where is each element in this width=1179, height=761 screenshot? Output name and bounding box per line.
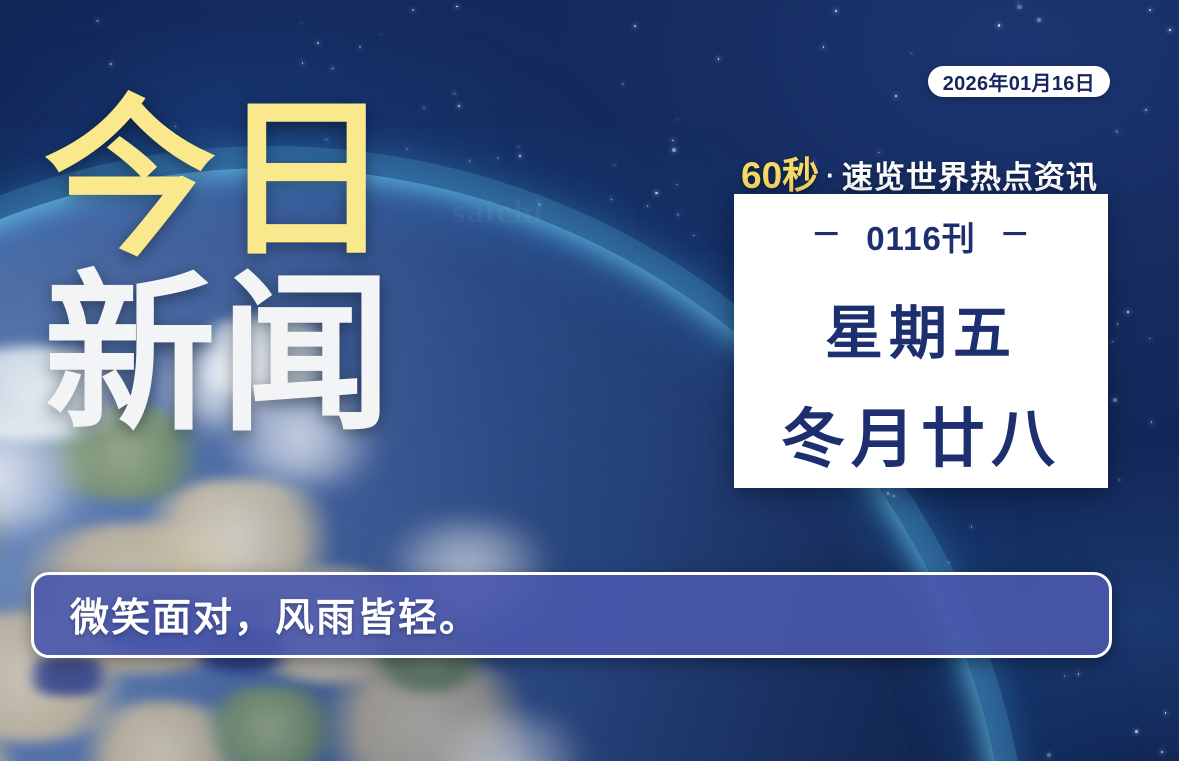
star-dot <box>647 205 649 207</box>
star-dot <box>672 140 674 142</box>
star-dot <box>718 58 720 60</box>
star-dot <box>634 25 636 27</box>
star-dot <box>497 157 499 159</box>
star-dot <box>693 235 695 237</box>
star-dot <box>622 83 624 85</box>
weekday-label: 星期五 <box>825 286 1017 370</box>
star-dot <box>1119 479 1121 481</box>
star-dot <box>1064 675 1066 677</box>
star-dot <box>655 192 658 195</box>
quote-text: 微笑面对，风雨皆轻。 <box>70 587 480 643</box>
star-dot <box>317 42 319 44</box>
issue-row: － 0116刊 － <box>811 212 1031 260</box>
star-dot <box>518 146 520 148</box>
star-dot <box>1113 398 1117 402</box>
date-badge: 2026年01月16日 <box>928 66 1110 97</box>
star-dot <box>971 526 973 528</box>
lunar-date-label: 冬月廿八 <box>781 388 1061 480</box>
star-dot <box>301 23 303 25</box>
star-dot <box>110 63 113 66</box>
star-dot <box>456 6 458 8</box>
star-dot <box>1018 2 1020 4</box>
star-dot <box>1135 730 1138 733</box>
star-dot <box>359 46 361 48</box>
star-dot <box>1116 130 1119 133</box>
issue-dash-right-icon: － <box>1000 221 1031 251</box>
star-dot <box>998 24 1001 27</box>
masthead-line-1: 今日 <box>44 96 474 265</box>
star-dot <box>823 46 825 48</box>
star-dot <box>1047 753 1051 757</box>
star-dot <box>677 119 679 121</box>
star-dot <box>96 20 99 23</box>
star-dot <box>676 184 678 186</box>
tagline-duration: 60秒 <box>741 145 819 199</box>
star-dot <box>1127 311 1129 313</box>
tagline-description: 速览世界热点资讯 <box>842 152 1098 197</box>
news-poster: saichi 今日 新闻 2026年01月16日 60秒 · 速览世界热点资讯 … <box>0 0 1179 761</box>
tagline: 60秒 · 速览世界热点资讯 <box>741 145 1098 199</box>
star-dot <box>1117 323 1119 325</box>
star-dot <box>1161 751 1164 754</box>
star-dot <box>1112 341 1114 343</box>
date-card: － 0116刊 － 星期五 冬月廿八 <box>734 194 1108 488</box>
star-dot <box>614 165 616 167</box>
star-dot <box>887 492 890 495</box>
star-dot <box>1145 109 1148 112</box>
star-dot <box>332 68 334 70</box>
quote-bar: 微笑面对，风雨皆轻。 <box>31 572 1112 658</box>
star-dot <box>381 34 383 36</box>
star-dot <box>1078 673 1080 675</box>
star-dot <box>412 9 414 11</box>
star-dot <box>1165 712 1167 714</box>
star-dot <box>835 10 837 12</box>
star-dot <box>672 148 676 152</box>
star-dot <box>895 95 897 97</box>
tagline-separator-dot: · <box>823 160 838 191</box>
star-dot <box>893 495 896 498</box>
masthead-line-2: 新闻 <box>44 271 474 440</box>
star-dot <box>519 155 521 157</box>
star-dot <box>677 213 680 216</box>
star-dot <box>302 62 304 64</box>
date-badge-label: 2026年01月16日 <box>943 67 1095 96</box>
star-dot <box>1149 338 1151 340</box>
issue-number: 0116刊 <box>866 212 976 260</box>
masthead-title: 今日 新闻 <box>44 96 474 439</box>
star-dot <box>611 199 613 201</box>
star-dot <box>911 53 913 55</box>
star-dot <box>1037 18 1041 22</box>
issue-dash-left-icon: － <box>811 221 842 251</box>
star-dot <box>1169 29 1171 31</box>
star-dot <box>1151 421 1153 423</box>
star-dot <box>1149 9 1151 11</box>
star-dot <box>948 562 950 564</box>
star-dot <box>454 93 456 95</box>
star-dot <box>1017 5 1021 9</box>
